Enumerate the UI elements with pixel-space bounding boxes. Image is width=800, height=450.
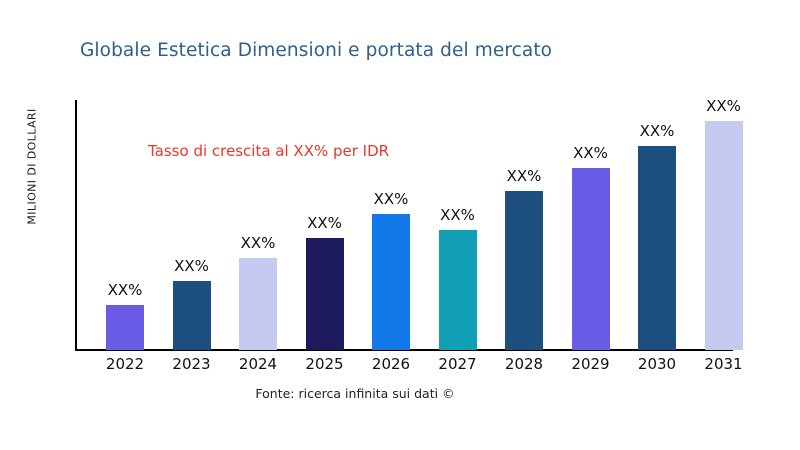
bar-group[interactable]: XX% bbox=[173, 100, 211, 350]
bar-2025[interactable] bbox=[306, 238, 344, 350]
bar-group[interactable]: XX% bbox=[638, 100, 676, 350]
x-tick-2029: 2029 bbox=[557, 355, 624, 373]
x-tick-2025: 2025 bbox=[291, 355, 358, 373]
bar-value-label-2031: XX% bbox=[706, 97, 741, 115]
x-tick-2030: 2030 bbox=[624, 355, 691, 373]
bar-2030[interactable] bbox=[638, 146, 676, 350]
bar-group[interactable]: XX% bbox=[572, 100, 610, 350]
bar-value-label-2022: XX% bbox=[108, 281, 143, 299]
bar-value-label-2026: XX% bbox=[374, 190, 409, 208]
x-tick-2024: 2024 bbox=[225, 355, 292, 373]
bar-group[interactable]: XX% bbox=[239, 100, 277, 350]
bar-group[interactable]: XX% bbox=[439, 100, 477, 350]
bar-value-label-2025: XX% bbox=[307, 214, 342, 232]
bar-value-label-2028: XX% bbox=[507, 167, 542, 185]
x-tick-2022: 2022 bbox=[92, 355, 159, 373]
growth-rate-annotation: Tasso di crescita al XX% per IDR bbox=[148, 142, 389, 160]
bar-2027[interactable] bbox=[439, 230, 477, 350]
chart-title: Globale Estetica Dimensioni e portata de… bbox=[80, 40, 740, 61]
bar-group[interactable]: XX% bbox=[306, 100, 344, 350]
bar-value-label-2030: XX% bbox=[640, 122, 675, 140]
x-tick-2026: 2026 bbox=[358, 355, 425, 373]
bar-2031[interactable] bbox=[705, 121, 743, 350]
x-tick-2027: 2027 bbox=[424, 355, 491, 373]
bar-group[interactable]: XX% bbox=[372, 100, 410, 350]
bar-2026[interactable] bbox=[372, 214, 410, 350]
bar-2024[interactable] bbox=[239, 258, 277, 350]
bar-value-label-2027: XX% bbox=[440, 206, 475, 224]
bar-value-label-2029: XX% bbox=[573, 144, 608, 162]
chart-container: Globale Estetica Dimensioni e portata de… bbox=[0, 0, 800, 450]
bar-group[interactable]: XX% bbox=[106, 100, 144, 350]
y-axis-label-area: MILIONI DI DOLLARI bbox=[0, 60, 60, 290]
bar-group[interactable]: XX% bbox=[505, 100, 543, 350]
plot-area: XX%XX%XX%XX%XX%XX%XX%XX%XX%XX% bbox=[75, 100, 800, 350]
bar-2022[interactable] bbox=[106, 305, 144, 350]
bar-value-label-2023: XX% bbox=[174, 257, 209, 275]
x-tick-2023: 2023 bbox=[158, 355, 225, 373]
source-footer: Fonte: ricerca infinita sui dati © bbox=[0, 386, 710, 401]
y-axis-label: MILIONI DI DOLLARI bbox=[26, 67, 39, 267]
bar-2029[interactable] bbox=[572, 168, 610, 350]
bar-2023[interactable] bbox=[173, 281, 211, 350]
x-axis-tick-labels: 2022202320242025202620272028202920302031 bbox=[75, 355, 800, 379]
x-tick-2028: 2028 bbox=[491, 355, 558, 373]
bar-value-label-2024: XX% bbox=[241, 234, 276, 252]
bar-group[interactable]: XX% bbox=[705, 100, 743, 350]
bar-2028[interactable] bbox=[505, 191, 543, 350]
x-tick-2031: 2031 bbox=[690, 355, 757, 373]
